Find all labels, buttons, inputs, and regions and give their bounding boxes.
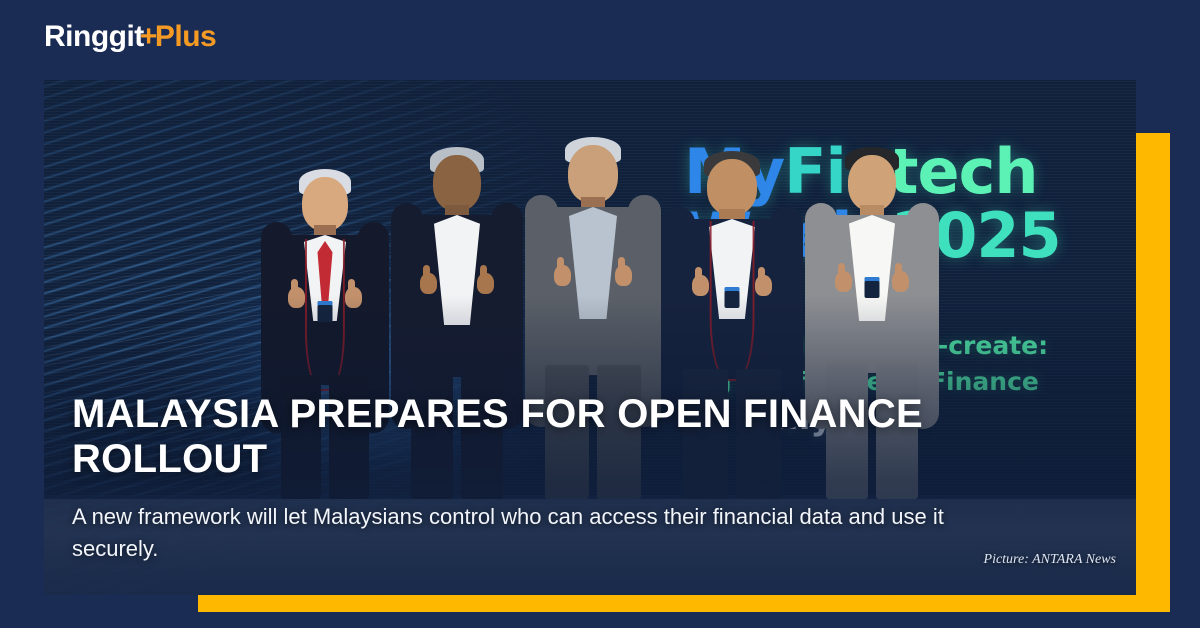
accent-bar-right xyxy=(1136,133,1170,612)
logo-text-ringgit: Ringgit xyxy=(44,20,144,53)
accent-bar-bottom xyxy=(198,595,1170,612)
page-subtitle: A new framework will let Malaysians cont… xyxy=(72,501,977,565)
ringgitplus-logo[interactable]: Ringgit+Plus xyxy=(44,22,216,52)
news-share-card: Ringgit+Plus MyFintech Week 2025 ate, In… xyxy=(0,0,1200,628)
photo-credit: Picture: ANTARA News xyxy=(984,552,1116,568)
logo-text-plus: Plus xyxy=(155,20,216,53)
page-title: Malaysia prepares for open finance rollo… xyxy=(72,392,972,482)
